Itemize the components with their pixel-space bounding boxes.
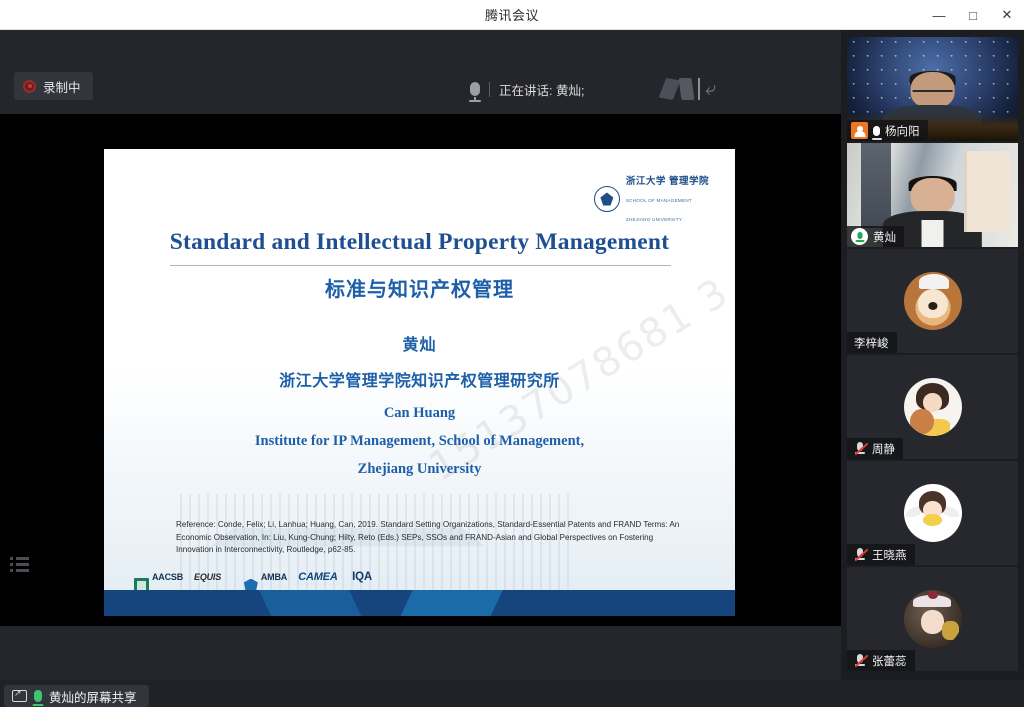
logo-chinese-text: 浙江大学 管理学院 [626,176,709,187]
microphone-muted-icon [854,442,867,455]
participant-label: 杨向阳 [847,120,928,141]
university-logo: 浙江大学 管理学院 SCHOOL OF MANAGEMENT ZHEJIANG … [594,171,709,226]
window-controls: — □ ✕ [922,0,1024,30]
meeting-stage: 录制中 正在讲话: 黄灿; ⤶ 15137078681 3 浙江大学 管理学院 … [0,30,841,680]
screen-share-status-bar[interactable]: 黄灿的屏幕共享 [4,685,149,707]
participant-tile-yangxiangyang[interactable]: 杨向阳 [847,37,1018,141]
microphone-on-icon [34,690,42,702]
shiba-dog-avatar [904,272,962,330]
recording-indicator[interactable]: 录制中 [14,72,93,100]
participant-name: 李梓峻 [854,335,889,351]
author-chinese-organization: 浙江大学管理学院知识产权管理研究所 [104,367,735,391]
author-english-organization-line2: Zhejiang University [104,461,735,478]
microphone-icon [470,82,480,96]
girl-with-bear-avatar [904,378,962,436]
iqa-name: IQA [352,571,372,583]
participant-name: 张蕾蕊 [872,653,907,669]
screen-share-label: 黄灿的屏幕共享 [49,687,137,706]
list-view-icon[interactable] [10,551,32,577]
participant-name: 黄灿 [873,229,896,245]
eraser-icon[interactable] [659,78,681,100]
logo-english-line1: SCHOOL OF MANAGEMENT [626,198,692,203]
app-title: 腾讯会议 [485,5,539,24]
participant-tile-zhangleirui[interactable]: 张蕾蕊 [847,567,1018,671]
shared-screen-area[interactable]: 15137078681 3 浙江大学 管理学院 SCHOOL OF MANAGE… [0,114,841,626]
amba-name: AMBA [261,572,287,582]
participant-tile-wangxiaoyan[interactable]: 王晓燕 [847,461,1018,565]
close-button[interactable]: ✕ [990,0,1024,30]
participant-label: 周静 [847,438,903,459]
author-block: 黄灿 浙江大学管理学院知识产权管理研究所 Can Huang Institute… [104,331,735,478]
record-dot-icon [23,80,36,93]
slide-title: Standard and Intellectual Property Manag… [104,229,735,256]
host-badge-icon [851,122,868,139]
participant-name: 周静 [872,441,895,457]
baby-photo-avatar [904,590,962,648]
window-title-bar: 腾讯会议 — □ ✕ [0,0,1024,30]
equis-name: EQUIS [194,572,221,582]
pen-tip-icon [698,78,700,100]
author-english-name: Can Huang [104,405,735,422]
screen-share-icon [12,690,27,702]
microphone-muted-icon [854,548,867,561]
participant-name: 杨向阳 [885,123,920,139]
participants-panel[interactable]: 杨向阳 黄灿 李梓峻 周静 [841,30,1024,680]
participant-tile-huangcan[interactable]: 黄灿 [847,143,1018,247]
author-chinese-name: 黄灿 [104,331,735,355]
aacsb-name: AACSB [152,572,183,582]
pen-icon[interactable] [678,78,694,100]
microphone-active-icon [851,228,868,245]
author-english-organization-line1: Institute for IP Management, School of M… [104,433,735,450]
presentation-slide: 15137078681 3 浙江大学 管理学院 SCHOOL OF MANAGE… [104,149,735,616]
slide-subtitle: 标准与知识产权管理 [104,273,735,302]
recording-label: 录制中 [43,77,81,96]
annotation-toolbar[interactable]: ⤶ [662,78,716,100]
participant-label: 王晓燕 [847,544,915,565]
active-speaker-indicator: 正在讲话: 黄灿; [470,75,584,103]
cartoon-kid-avatar [904,484,962,542]
microphone-muted-icon [854,654,867,667]
zhejiang-university-shield-icon [594,186,620,212]
camea-name: CAMEA [298,571,337,583]
participant-label: 张蕾蕊 [847,650,915,671]
participant-tile-lizijun[interactable]: 李梓峻 [847,249,1018,353]
speaking-label: 正在讲话: 黄灿; [499,80,584,99]
title-divider [170,265,671,266]
participant-name: 王晓燕 [872,547,907,563]
maximize-button[interactable]: □ [956,0,990,30]
undo-arrow-icon[interactable]: ⤶ [705,79,716,99]
logo-english-line2: ZHEJIANG UNIVERSITY [626,217,682,222]
participant-label: 黄灿 [847,226,904,247]
slide-reference-text: Reference: Conde, Felix; Li, Lanhua; Hua… [176,519,691,557]
participant-label: 李梓峻 [847,332,897,353]
microphone-on-icon [873,126,880,136]
slide-footer-band [104,590,735,616]
participant-tile-zhoujing[interactable]: 周静 [847,355,1018,459]
minimize-button[interactable]: — [922,0,956,30]
divider [489,82,490,97]
